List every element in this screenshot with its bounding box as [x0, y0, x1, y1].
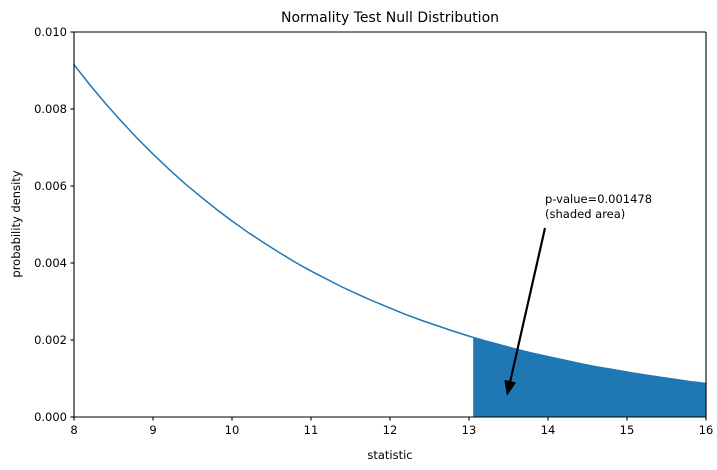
y-tick-label: 0.008	[34, 102, 67, 116]
y-tick-label: 0.002	[34, 333, 67, 347]
y-axis-ticks: 0.0000.0020.0040.0060.0080.010	[34, 25, 74, 424]
chart-title: Normality Test Null Distribution	[281, 10, 499, 26]
matplotlib-figure: 8910111213141516 0.0000.0020.0040.0060.0…	[0, 0, 717, 470]
x-tick-label: 16	[699, 423, 714, 437]
x-tick-label: 8	[70, 423, 77, 437]
annotation-line-1: p-value=0.001478	[545, 192, 652, 206]
y-tick-label: 0.006	[34, 179, 67, 193]
x-tick-label: 12	[383, 423, 398, 437]
annotation-line-2: (shaded area)	[545, 207, 625, 221]
x-axis-label: statistic	[367, 448, 412, 462]
x-tick-label: 9	[149, 423, 156, 437]
y-tick-label: 0.004	[34, 256, 67, 270]
x-axis-ticks: 8910111213141516	[70, 417, 713, 437]
y-tick-label: 0.000	[34, 410, 67, 424]
y-axis-label: probability density	[9, 170, 23, 277]
x-tick-label: 11	[304, 423, 319, 437]
x-tick-label: 10	[225, 423, 240, 437]
x-tick-label: 13	[462, 423, 477, 437]
y-tick-label: 0.010	[34, 25, 67, 39]
chart-canvas: 8910111213141516 0.0000.0020.0040.0060.0…	[0, 0, 717, 470]
x-tick-label: 14	[541, 423, 556, 437]
x-tick-label: 15	[620, 423, 635, 437]
axes-background	[74, 32, 706, 417]
